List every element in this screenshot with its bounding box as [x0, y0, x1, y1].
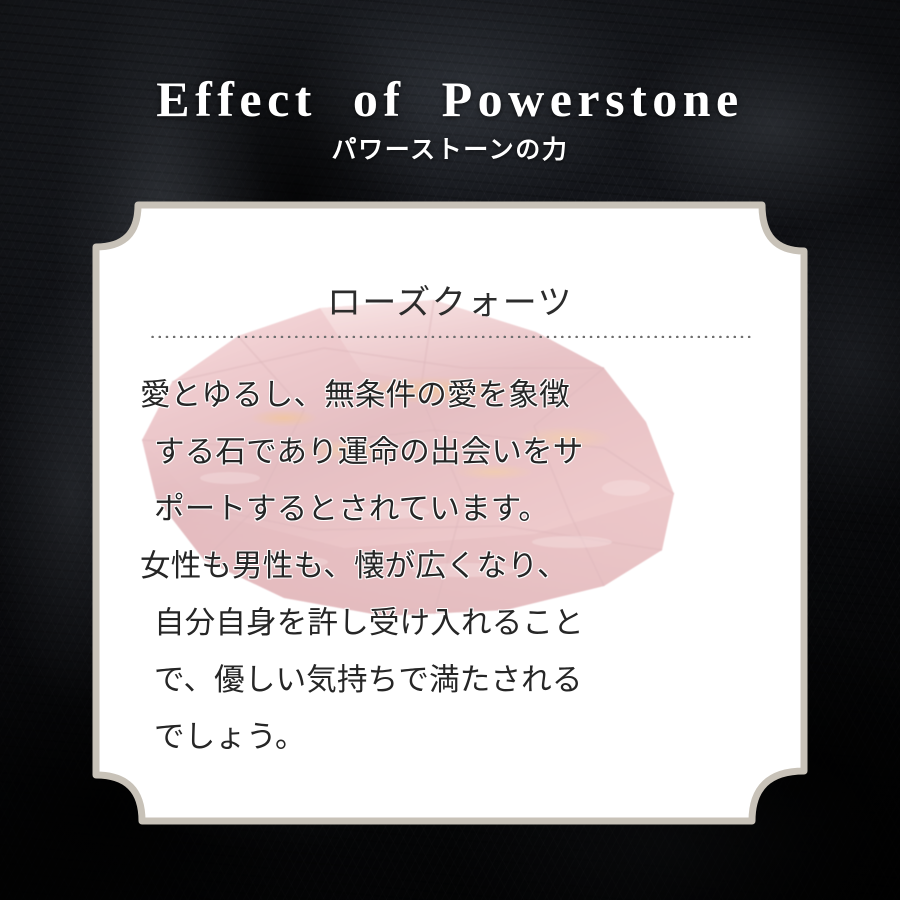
powerstone-infographic: Effect of Powerstone パワーストーンの力: [0, 0, 900, 900]
card-content: ローズクォーツ 愛とゆるし、無条件の愛を象徴 する石であり運命の出会いをサ ポー…: [92, 201, 808, 829]
description-line: ポートするとされています。: [140, 481, 760, 538]
header: Effect of Powerstone パワーストーンの力: [0, 74, 900, 166]
stone-description: 愛とゆるし、無条件の愛を象徴 する石であり運命の出会いをサ ポートするとされてい…: [140, 367, 760, 766]
description-line: 女性も男性も、懐が広くなり、: [140, 538, 760, 595]
page-title: Effect of Powerstone: [0, 74, 900, 125]
dotted-divider: [149, 334, 751, 338]
description-line: する石であり運命の出会いをサ: [140, 424, 760, 481]
description-line: 自分自身を許し受け入れること: [140, 595, 760, 652]
card-inner: ローズクォーツ 愛とゆるし、無条件の愛を象徴 する石であり運命の出会いをサ ポー…: [92, 201, 808, 829]
page-subtitle: パワーストーンの力: [0, 130, 900, 166]
description-line: で、優しい気持ちで満たされる: [140, 652, 760, 709]
description-line: 愛とゆるし、無条件の愛を象徴: [140, 367, 760, 424]
stone-info-card: ローズクォーツ 愛とゆるし、無条件の愛を象徴 する石であり運命の出会いをサ ポー…: [92, 201, 808, 829]
stone-name-heading: ローズクォーツ: [92, 275, 808, 324]
description-line: でしょう。: [140, 709, 760, 766]
